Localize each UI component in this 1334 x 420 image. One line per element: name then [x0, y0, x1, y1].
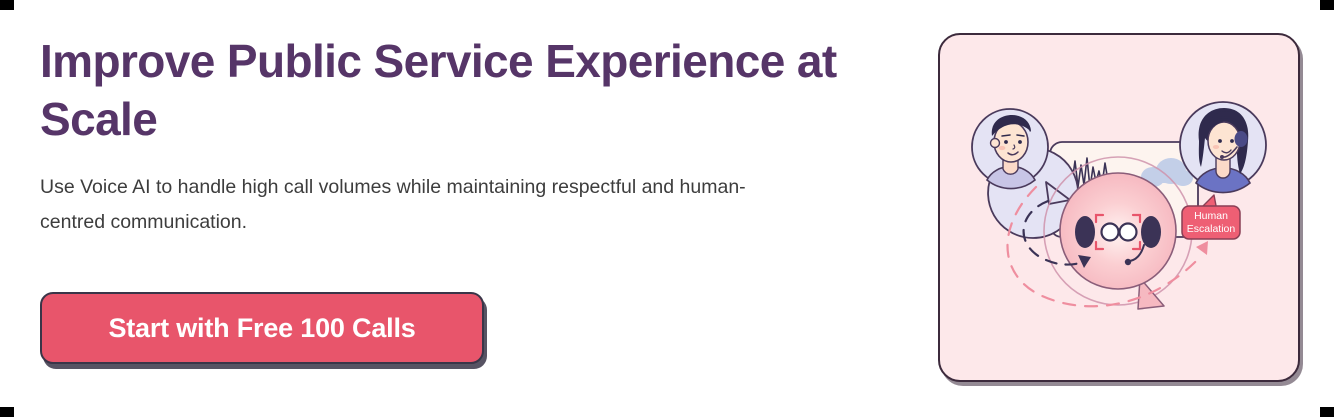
- promo-banner: Improve Public Service Experience at Sca…: [0, 0, 1334, 420]
- start-free-calls-button[interactable]: Start with Free 100 Calls: [40, 292, 484, 364]
- badge-line-2: Escalation: [1187, 223, 1236, 235]
- illustration-panel: Human Escalation: [938, 33, 1300, 382]
- badge-line-1: Human: [1194, 210, 1228, 222]
- corner-mark-bottom-left: [0, 407, 14, 417]
- voice-ai-illustration: Human Escalation: [940, 35, 1294, 376]
- corner-mark-bottom-right: [1320, 407, 1334, 417]
- copy-block: Improve Public Service Experience at Sca…: [40, 32, 870, 364]
- corner-mark-top-left: [0, 0, 14, 10]
- corner-mark-top-right: [1320, 0, 1334, 10]
- cta-container: Start with Free 100 Calls: [40, 292, 870, 364]
- page-subtitle: Use Voice AI to handle high call volumes…: [40, 170, 800, 240]
- page-title: Improve Public Service Experience at Sca…: [40, 32, 850, 148]
